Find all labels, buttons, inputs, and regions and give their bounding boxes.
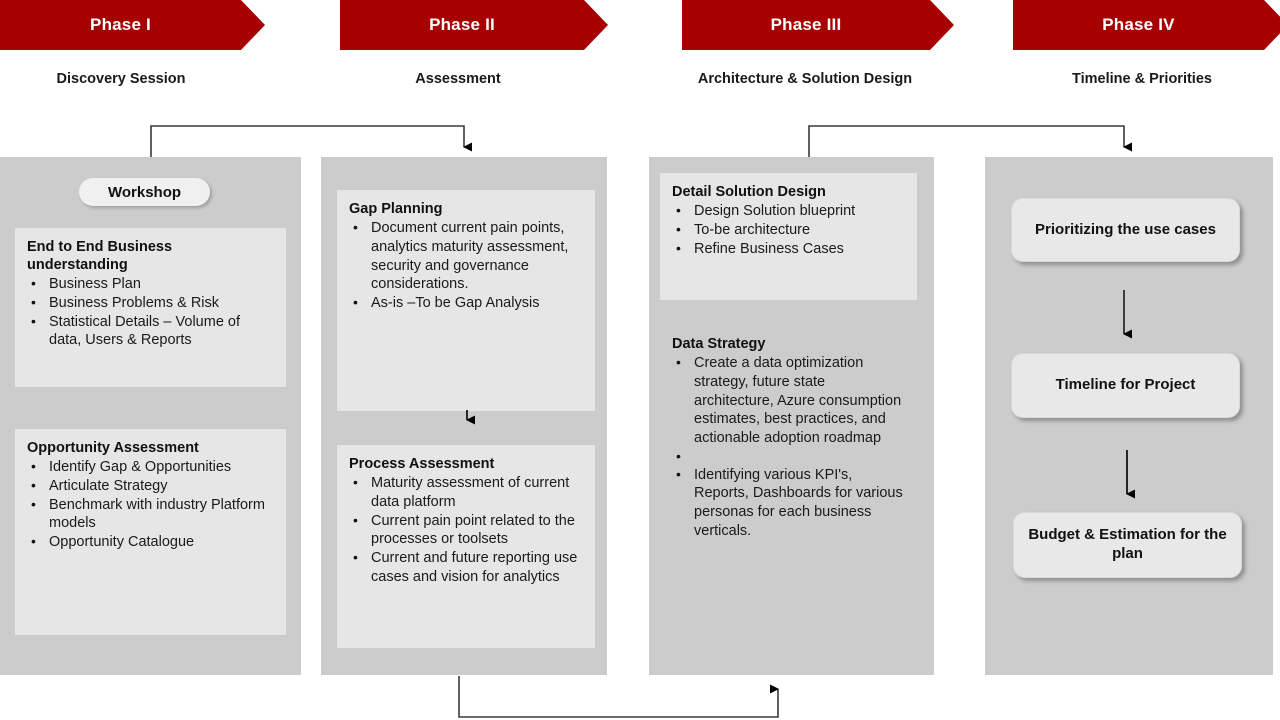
card-gap-planning: Gap Planning Document current pain point… [337,190,595,411]
phase-banner-1[interactable]: Phase I [0,0,265,50]
list-item: As-is –To be Gap Analysis [349,294,583,313]
card-title: Detail Solution Design [672,183,905,201]
list-item: Design Solution blueprint [672,202,905,221]
step-box-prioritizing-use-cases[interactable]: Prioritizing the use cases [1011,198,1240,262]
card-title: End to End Business understanding [27,238,274,274]
card-bullet-list: Business Plan Business Problems & Risk S… [27,275,274,350]
list-item: Benchmark with industry Platform models [27,496,274,533]
card-bullet-list: Identify Gap & Opportunities Articulate … [27,458,274,552]
phase-banner-3[interactable]: Phase III [682,0,954,50]
step-box-budget-estimation[interactable]: Budget & Estimation for the plan [1013,512,1242,578]
phase-banner-2-label: Phase II [429,15,495,35]
step-box-label: Timeline for Project [1056,376,1196,395]
step-box-label: Prioritizing the use cases [1035,221,1216,240]
list-item: Identify Gap & Opportunities [27,458,274,477]
phase-2-panel: Gap Planning Document current pain point… [321,157,607,675]
list-item: Statistical Details – Volume of data, Us… [27,313,274,350]
phase-caption-1: Discovery Session [0,71,242,87]
list-item: Maturity assessment of current data plat… [349,474,583,511]
process-flow-diagram: Phase I Phase II Phase III Phase IV Disc… [0,0,1280,720]
phase-3-panel: Detail Solution Design Design Solution b… [649,157,934,675]
card-data-strategy: Data Strategy Create a data optimization… [660,325,917,605]
phase-banner-4-label: Phase IV [1102,15,1174,35]
list-item: Business Problems & Risk [27,294,274,313]
workshop-pill-label: Workshop [108,184,181,201]
step-box-label: Budget & Estimation for the plan [1024,526,1231,564]
phase3-to-phase4-arrow [809,126,1124,157]
phase-banner-4[interactable]: Phase IV [1013,0,1280,50]
card-detail-solution-design: Detail Solution Design Design Solution b… [660,173,917,300]
list-item: Current pain point related to the proces… [349,512,583,549]
list-item: Business Plan [27,275,274,294]
phase-caption-2: Assessment [340,71,576,87]
card-bullet-list: Create a data optimization strategy, fut… [672,354,905,540]
phase-banner-1-label: Phase I [90,15,151,35]
card-bullet-list: Maturity assessment of current data plat… [349,474,583,586]
card-title: Data Strategy [672,335,905,353]
list-item: To-be architecture [672,221,905,240]
phase-caption-3: Architecture & Solution Design [682,71,928,87]
card-title: Opportunity Assessment [27,439,274,457]
list-item: Opportunity Catalogue [27,533,274,552]
card-opportunity-assessment: Opportunity Assessment Identify Gap & Op… [15,429,286,635]
step-box-timeline-for-project[interactable]: Timeline for Project [1011,353,1240,418]
phase-banner-3-label: Phase III [771,15,842,35]
phase-4-panel: Prioritizing the use cases Timeline for … [985,157,1273,675]
card-bullet-list: Document current pain points, analytics … [349,219,583,313]
list-spacer [672,448,905,466]
phase-caption-4: Timeline & Priorities [1013,71,1271,87]
card-title: Process Assessment [349,455,583,473]
phase-1-panel: Workshop End to End Business understandi… [0,157,301,675]
list-item: Create a data optimization strategy, fut… [672,354,905,448]
list-item: Refine Business Cases [672,240,905,259]
phase2-to-phase3-feedback-arrow [459,676,778,717]
card-bullet-list: Design Solution blueprint To-be architec… [672,202,905,258]
phase-banner-2[interactable]: Phase II [340,0,608,50]
card-end-to-end-business-understanding: End to End Business understanding Busine… [15,228,286,387]
card-process-assessment: Process Assessment Maturity assessment o… [337,445,595,648]
list-item: Document current pain points, analytics … [349,219,583,294]
list-item: Articulate Strategy [27,477,274,496]
phase1-to-phase2-arrow [151,126,464,157]
list-item: Current and future reporting use cases a… [349,549,583,586]
card-title: Gap Planning [349,200,583,218]
workshop-pill[interactable]: Workshop [79,178,210,206]
list-item: Identifying various KPI's, Reports, Dash… [672,466,905,541]
